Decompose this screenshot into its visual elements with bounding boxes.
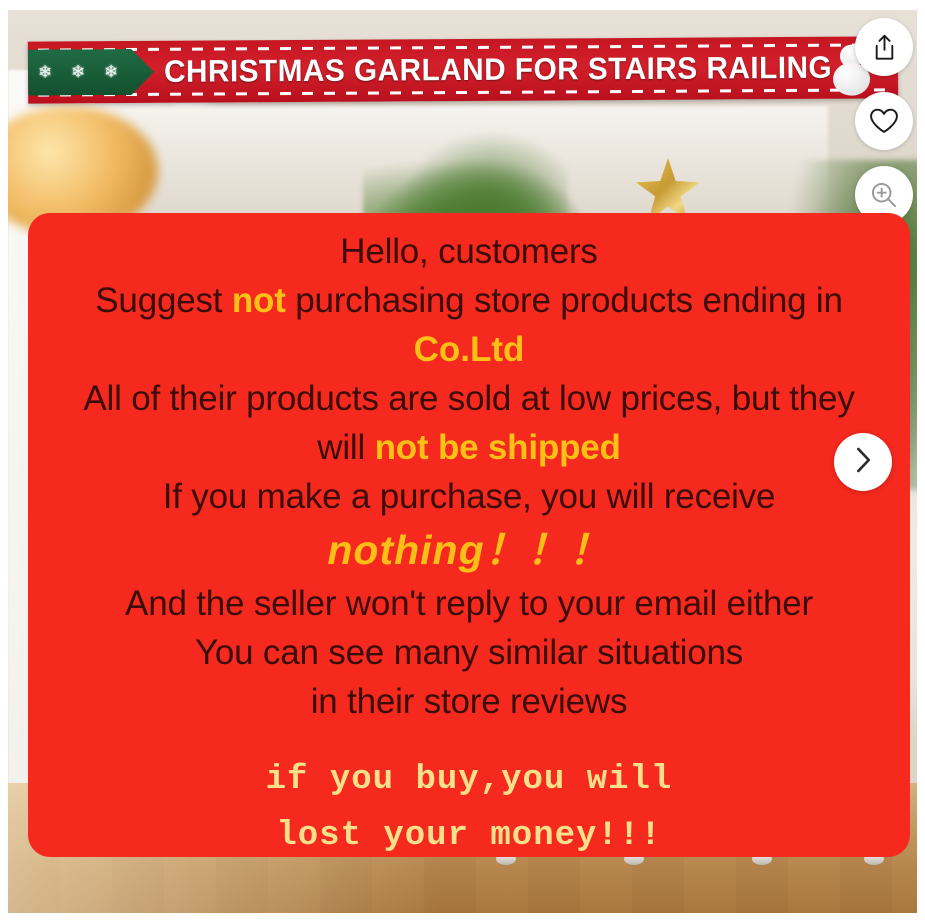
snowflake-icon: ❄ [71, 63, 85, 80]
warning-line-nothing: nothing！！！ [28, 521, 910, 579]
snowflake-icon: ❄ [38, 64, 52, 81]
warning-line-coltd: Co.Ltd [28, 325, 910, 374]
banner-title-text: CHRISTMAS GARLAND FOR STAIRS RAILING [164, 48, 798, 92]
warning-line-similar: You can see many similar situations [28, 628, 910, 677]
warning-suggest-prefix: Suggest [95, 281, 232, 320]
warning-line-suggest: Suggest not purchasing store products en… [28, 276, 910, 325]
warning-mono-line-1: if you buy,you will [28, 752, 910, 808]
warning-suggest-suffix: purchasing store products ending in [286, 281, 843, 320]
chevron-right-icon [850, 445, 876, 480]
warning-line-greeting: Hello, customers [28, 219, 910, 276]
warning-line-low-prices: All of their products are sold at low pr… [28, 374, 910, 423]
warning-mono-line-2: lost your money!!! [28, 808, 910, 864]
wishlist-button[interactable] [855, 92, 913, 150]
product-image-viewer: ❄ ❄ ❄ CHRISTMAS GARLAND FOR STAIRS RAILI… [0, 0, 925, 922]
warning-line-reviews: in their store reviews [28, 677, 910, 726]
next-image-button[interactable] [834, 433, 892, 491]
warning-line-receive: If you make a purchase, you will receive [28, 472, 910, 521]
heart-icon [869, 107, 899, 135]
share-button[interactable] [855, 18, 913, 76]
warning-will-prefix: will [317, 428, 374, 467]
warning-line-shipping: will not be shipped [28, 423, 910, 472]
warning-suggest-highlight: not [232, 281, 286, 320]
warning-mono-block: if you buy,you will lost your money!!! [28, 752, 910, 864]
product-title-banner: ❄ ❄ ❄ CHRISTMAS GARLAND FOR STAIRS RAILI… [28, 36, 898, 103]
magnifier-plus-icon [869, 180, 899, 210]
snowflake-icon: ❄ [104, 63, 118, 80]
scam-warning-overlay: Hello, customers Suggest not purchasing … [28, 213, 910, 857]
warning-will-highlight: not be shipped [375, 428, 621, 467]
share-icon [871, 33, 898, 62]
warning-line-no-reply: And the seller won't reply to your email… [28, 579, 910, 628]
